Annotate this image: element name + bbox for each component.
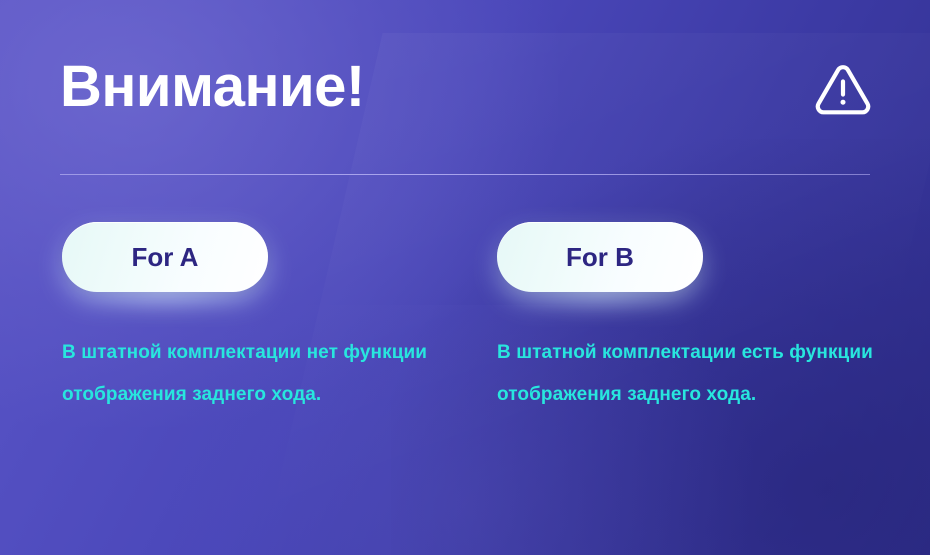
column-for-a: For A В штатной комплектации нет функции… <box>62 222 462 416</box>
column-for-b: For B В штатной комплектации есть функци… <box>497 222 897 416</box>
pill-wrap-b: For B <box>497 222 703 292</box>
pill-wrap-a: For A <box>62 222 268 292</box>
column-a-body-text: В штатной комплектации нет функции отобр… <box>62 332 447 416</box>
button-for-b[interactable]: For B <box>497 222 703 292</box>
column-b-body-text: В штатной комплектации есть функции отоб… <box>497 332 887 416</box>
slide-canvas: Внимание! For A В штатной комплектации н… <box>0 0 930 555</box>
button-for-b-label: For B <box>566 243 634 271</box>
button-for-a[interactable]: For A <box>62 222 268 292</box>
columns-container: For A В штатной комплектации нет функции… <box>0 0 930 555</box>
button-for-a-label: For A <box>132 243 199 271</box>
